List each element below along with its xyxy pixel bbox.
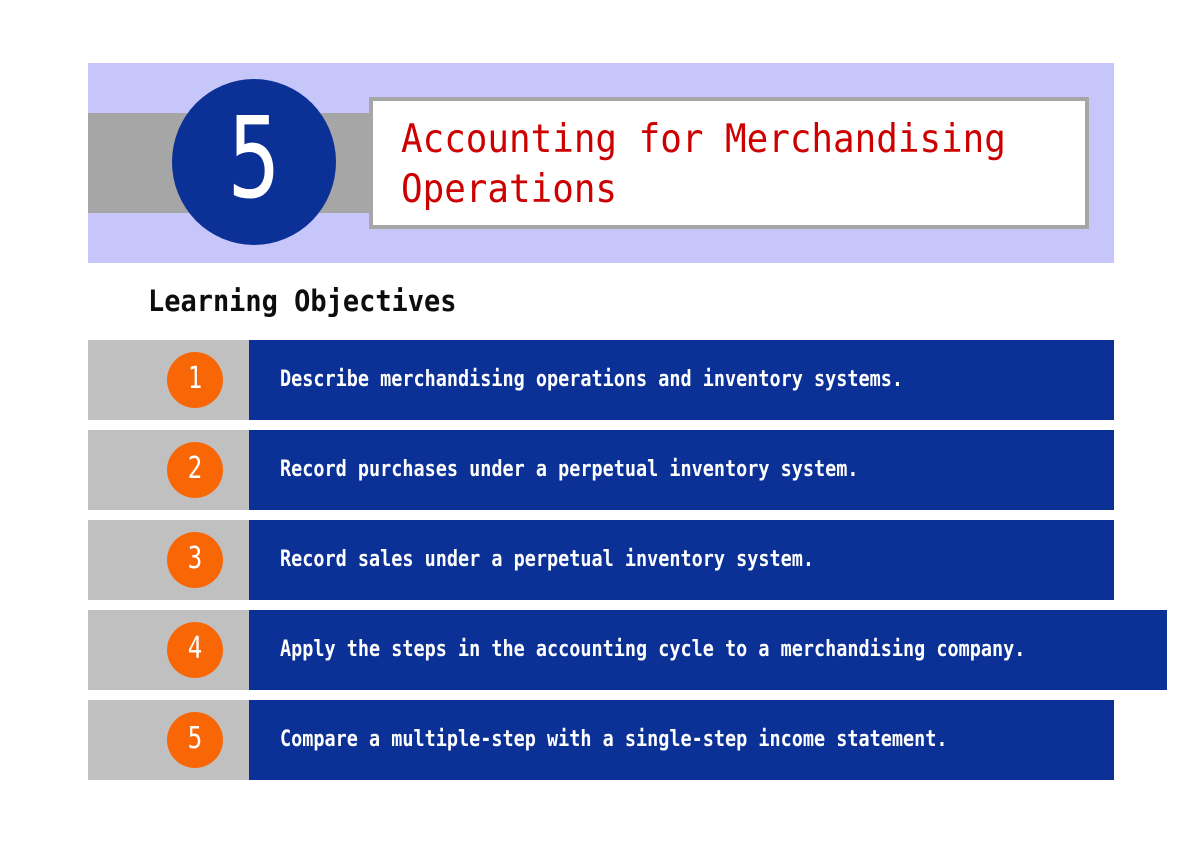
objective-badge-number: 1 (188, 364, 202, 397)
objective-badge-cell: 5 (88, 700, 249, 780)
objective-text-cell: Describe merchandising operations and in… (249, 340, 1114, 420)
chapter-title-line-1: Accounting for Merchandising (401, 115, 1030, 165)
objective-badge-circle: 3 (167, 532, 223, 588)
objective-row: 3 Record sales under a perpetual invento… (88, 520, 1114, 600)
chapter-number-circle: 5 (172, 79, 336, 245)
objective-row: 2 Record purchases under a perpetual inv… (88, 430, 1114, 510)
objective-badge-number: 4 (188, 634, 202, 667)
objective-badge-number: 2 (188, 454, 202, 487)
objective-row: 4 Apply the steps in the accounting cycl… (88, 610, 1114, 690)
objective-text-cell: Compare a multiple-step with a single-st… (249, 700, 1114, 780)
objective-text: Apply the steps in the accounting cycle … (280, 637, 1025, 663)
objective-badge-circle: 4 (167, 622, 223, 678)
chapter-title-line-2: Operations (401, 165, 1030, 215)
objective-badge-cell: 3 (88, 520, 249, 600)
objective-badge-cell: 1 (88, 340, 249, 420)
slide-canvas: 5 Accounting for Merchandising Operation… (0, 0, 1200, 849)
objective-badge-cell: 2 (88, 430, 249, 510)
objective-badge-circle: 2 (167, 442, 223, 498)
objective-row: 1 Describe merchandising operations and … (88, 340, 1114, 420)
objective-text: Describe merchandising operations and in… (280, 367, 903, 393)
chapter-title-box: Accounting for Merchandising Operations (369, 97, 1089, 229)
objective-badge-number: 5 (188, 724, 202, 757)
objective-badge-circle: 1 (167, 352, 223, 408)
objective-badge-number: 3 (188, 544, 202, 577)
objective-text: Record purchases under a perpetual inven… (280, 457, 859, 483)
objective-text-cell: Record purchases under a perpetual inven… (249, 430, 1114, 510)
objective-badge-cell: 4 (88, 610, 249, 690)
objective-text-cell: Apply the steps in the accounting cycle … (249, 610, 1167, 690)
learning-objectives-list: 1 Describe merchandising operations and … (88, 340, 1114, 790)
objective-text: Record sales under a perpetual inventory… (280, 547, 814, 573)
chapter-number-label: 5 (190, 79, 318, 245)
objective-row: 5 Compare a multiple-step with a single-… (88, 700, 1114, 780)
learning-objectives-heading: Learning Objectives (148, 283, 457, 319)
objective-badge-circle: 5 (167, 712, 223, 768)
objective-text: Compare a multiple-step with a single-st… (280, 727, 948, 753)
objective-text-cell: Record sales under a perpetual inventory… (249, 520, 1114, 600)
